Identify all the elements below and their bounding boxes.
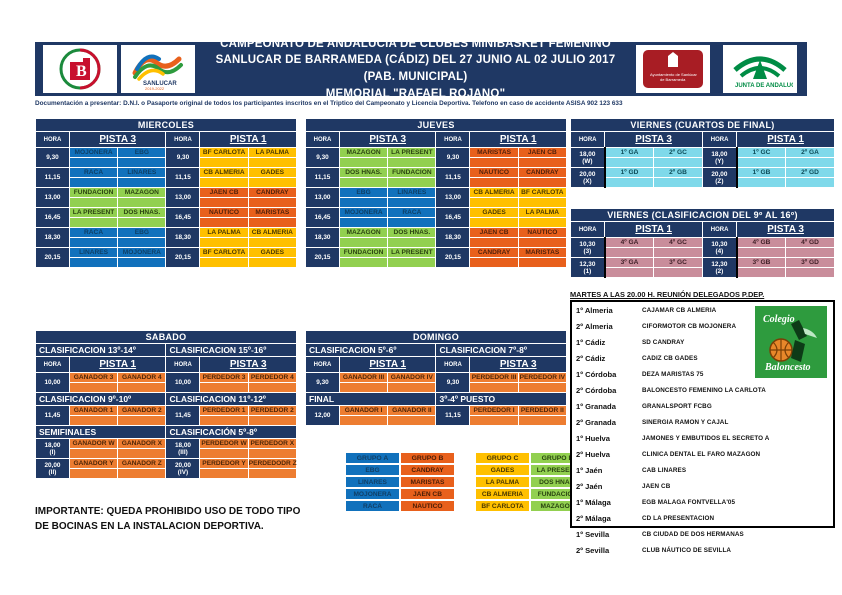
team-list-position: 2º Jaén: [576, 482, 642, 491]
team-cell[interactable]: FUNDACION: [339, 248, 387, 258]
section-title-left: CLASIFICACION 5º-6º: [306, 344, 436, 357]
team-cell[interactable]: GADES: [470, 208, 518, 218]
ayuntamiento-sanlucar-logo: Ayuntamiento de Sanlúcar de Barrameda: [636, 45, 710, 93]
svg-text:Baloncesto: Baloncesto: [764, 362, 811, 373]
score-cell[interactable]: [69, 383, 117, 393]
team-cell[interactable]: 2º GA: [786, 148, 835, 158]
day-header: JUEVES: [306, 119, 567, 132]
section-title-right: CLASIFICACION 7º-8º: [436, 344, 567, 357]
match-time: 9,30: [36, 148, 70, 168]
team-cell[interactable]: EBG: [339, 188, 387, 198]
score-cell[interactable]: [388, 218, 436, 228]
score-cell[interactable]: [118, 178, 166, 188]
score-cell[interactable]: [605, 268, 654, 278]
team-cell[interactable]: LINARES: [388, 188, 436, 198]
hora-header: HORA: [36, 132, 70, 148]
importante-line-1: IMPORTANTE: QUEDA PROHIBIDO USO DE TODO …: [35, 505, 335, 520]
match-time: 16,45: [436, 208, 470, 228]
score-cell[interactable]: [118, 218, 166, 228]
section-title-row: FINAL3º-4º PUESTO: [306, 393, 567, 406]
match-time: 20,15: [436, 248, 470, 268]
score-cell[interactable]: [200, 258, 248, 268]
team-list-row: 2º JaénJAEN CB: [572, 478, 833, 494]
match-time: 9,30: [306, 373, 340, 393]
team-cell[interactable]: JAEN CB: [470, 228, 518, 238]
team-cell[interactable]: PERDEDOR IV: [518, 373, 566, 383]
team-cell[interactable]: MOJONERA: [69, 148, 117, 158]
team-cell[interactable]: MAZAGON: [339, 228, 387, 238]
match-row: 16,45LA PRESENTDOS HNAS.16,45NAUTICOMARI…: [36, 208, 297, 218]
match-row: 20,15FUNDACIONLA PRESENT20,15CANDRAYMARI…: [306, 248, 567, 258]
match-time: 13,00: [436, 188, 470, 208]
team-cell[interactable]: 4º GC: [654, 238, 703, 248]
score-cell[interactable]: [248, 218, 296, 228]
match-time: 18,00(I): [36, 439, 70, 459]
score-cell[interactable]: [786, 268, 835, 278]
score-cell[interactable]: [200, 449, 248, 459]
team-list-club: BALONCESTO FEMENINO LA CARLOTA: [642, 387, 766, 394]
match-time: 9,30: [436, 373, 470, 393]
team-list-position: 1º Huelva: [576, 434, 642, 443]
team-cell[interactable]: 3º GD: [786, 258, 835, 268]
group-column: GRUPO BCANDRAYMARISTASJAEN CBNAUTICO: [400, 452, 455, 512]
team-cell[interactable]: BF CARLOTA: [200, 248, 248, 258]
score-cell[interactable]: [388, 416, 436, 426]
score-cell[interactable]: [339, 198, 387, 208]
group-team[interactable]: CANDRAY: [400, 464, 455, 476]
court-header-right: PISTA 1: [200, 132, 297, 148]
score-cell[interactable]: [69, 158, 117, 168]
score-cell[interactable]: [388, 158, 436, 168]
team-cell[interactable]: EBG: [118, 148, 166, 158]
score-cell[interactable]: [339, 258, 387, 268]
match-row: 11,45GANADOR 1GANADOR 211,45PERDEDOR 1PE…: [36, 406, 297, 416]
team-cell[interactable]: DOS HNAS.: [339, 168, 387, 178]
score-cell[interactable]: [118, 416, 166, 426]
score-cell[interactable]: [118, 258, 166, 268]
match-time: 10,30(4): [702, 238, 736, 258]
team-cell[interactable]: PERDEDOR 1: [200, 406, 248, 416]
team-cell[interactable]: MARISTAS: [470, 148, 518, 158]
team-cell[interactable]: GANADOR II: [388, 406, 436, 416]
score-cell[interactable]: [248, 178, 296, 188]
score-cell[interactable]: [200, 416, 248, 426]
team-cell[interactable]: GANADOR 2: [118, 406, 166, 416]
team-cell[interactable]: CB ALMERIA: [470, 188, 518, 198]
schedule-sabado: SABADOCLASIFICACION 13º-14ºCLASIFICACION…: [35, 330, 297, 479]
team-list-row: 2º HuelvaCLINICA DENTAL EL FARO MAZAGON: [572, 446, 833, 462]
score-cell[interactable]: [200, 198, 248, 208]
score-cell[interactable]: [737, 178, 786, 188]
team-cell[interactable]: 1º GD: [605, 168, 654, 178]
score-cell[interactable]: [200, 158, 248, 168]
team-cell[interactable]: 1º GC: [737, 148, 786, 158]
score-cell[interactable]: [388, 198, 436, 208]
score-cell[interactable]: [248, 158, 296, 168]
team-cell[interactable]: FUNDACION: [69, 188, 117, 198]
court-header-right: PISTA 1: [737, 132, 835, 148]
score-cell[interactable]: [200, 238, 248, 248]
team-cell[interactable]: 4º GA: [605, 238, 654, 248]
team-cell[interactable]: PERDEDODR Z: [248, 459, 296, 469]
team-cell[interactable]: GANADOR 4: [118, 373, 166, 383]
team-list-row: 2º GranadaSINERGIA RAMON Y CAJAL: [572, 414, 833, 430]
score-cell[interactable]: [339, 383, 387, 393]
group-team[interactable]: JAEN CB: [400, 488, 455, 500]
team-cell[interactable]: 2º GC: [654, 148, 703, 158]
score-cell[interactable]: [737, 248, 786, 258]
team-cell[interactable]: JAEN CB: [200, 188, 248, 198]
court-header-right: PISTA 3: [470, 357, 567, 373]
team-cell[interactable]: 1º GB: [737, 168, 786, 178]
team-cell[interactable]: MAZAGON: [118, 188, 166, 198]
header-right-logos: Ayuntamiento de Sanlúcar de Barrameda JU…: [636, 45, 797, 93]
score-cell[interactable]: [69, 416, 117, 426]
score-cell[interactable]: [786, 248, 835, 258]
section-title-row: SEMIFINALESCLASIFICACIÓN 5º-8º: [36, 426, 297, 439]
score-cell[interactable]: [518, 158, 566, 168]
hora-header: HORA: [166, 357, 200, 373]
match-time: 11,15: [166, 168, 200, 188]
match-time: 10,30(3): [571, 238, 605, 258]
match-time: 12,00: [306, 406, 340, 426]
team-cell[interactable]: GANADOR III: [339, 373, 387, 383]
score-cell[interactable]: [737, 268, 786, 278]
score-cell[interactable]: [248, 238, 296, 248]
match-time: 9,30: [166, 148, 200, 168]
match-time: 12,30(2): [702, 258, 736, 278]
team-cell[interactable]: PERDEDOR II: [518, 406, 566, 416]
day-header: VIERNES (CUARTOS DE FINAL): [571, 119, 835, 132]
team-cell[interactable]: EBG: [118, 228, 166, 238]
team-cell[interactable]: PERDEDOR III: [470, 373, 518, 383]
team-cell[interactable]: GANADOR Z: [118, 459, 166, 469]
score-cell[interactable]: [200, 218, 248, 228]
team-cell[interactable]: NAUTICO: [470, 168, 518, 178]
score-cell[interactable]: [470, 218, 518, 228]
team-cell[interactable]: GANADOR W: [69, 439, 117, 449]
team-cell[interactable]: PERDEDOR 2: [248, 406, 296, 416]
score-cell[interactable]: [518, 238, 566, 248]
match-time: 11,45: [166, 406, 200, 426]
team-cell[interactable]: LINARES: [69, 248, 117, 258]
team-list-position: 2º Sevilla: [576, 546, 642, 555]
score-cell[interactable]: [69, 178, 117, 188]
team-list-row: 1º MálagaEGB MALAGA FONTVELLA'05: [572, 494, 833, 510]
tournament-schedule-page: B SANLUCAR 2019-2022 CAMPEONATO DE ANDAL…: [0, 0, 842, 595]
team-list-club: SINERGIA RAMON Y CAJAL: [642, 419, 728, 426]
group-column: GRUPO AEBGLINARESMOJONERARACA: [345, 452, 400, 512]
group-column: GRUPO CGADESLA PALMACB ALMERIABF CARLOTA: [475, 452, 530, 512]
match-row: 9,30GANADOR IIIGANADOR IV9,30PERDEDOR II…: [306, 373, 567, 383]
team-cell[interactable]: CANDRAY: [248, 188, 296, 198]
hora-header: HORA: [166, 132, 200, 148]
match-time: 18,30: [306, 228, 340, 248]
hora-header: HORA: [306, 132, 340, 148]
score-cell[interactable]: [470, 258, 518, 268]
schedule-domingo: DOMINGOCLASIFICACION 5º-6ºCLASIFICACION …: [305, 330, 567, 426]
score-cell[interactable]: [518, 416, 566, 426]
team-cell[interactable]: 3º GB: [737, 258, 786, 268]
team-cell[interactable]: LA PALMA: [248, 148, 296, 158]
team-cell[interactable]: 3º GC: [654, 258, 703, 268]
team-cell[interactable]: LA PRESENT: [388, 248, 436, 258]
team-cell[interactable]: 2º GB: [654, 168, 703, 178]
score-cell[interactable]: [518, 178, 566, 188]
team-cell[interactable]: 4º GD: [786, 238, 835, 248]
team-cell[interactable]: RACA: [69, 228, 117, 238]
score-cell[interactable]: [654, 248, 703, 258]
score-cell[interactable]: [388, 238, 436, 248]
score-cell[interactable]: [388, 178, 436, 188]
team-cell[interactable]: DOS HNAS.: [118, 208, 166, 218]
group-team[interactable]: EBG: [345, 464, 400, 476]
score-cell[interactable]: [339, 158, 387, 168]
score-cell[interactable]: [518, 218, 566, 228]
team-cell[interactable]: CANDRAY: [518, 168, 566, 178]
team-list-position: 2º Huelva: [576, 450, 642, 459]
team-cell[interactable]: DOS HNAS.: [388, 228, 436, 238]
team-cell[interactable]: MOJONERA: [339, 208, 387, 218]
team-list-position: 1º Málaga: [576, 498, 642, 507]
score-cell[interactable]: [654, 178, 703, 188]
hora-header: HORA: [436, 132, 470, 148]
fab-logo: B: [43, 45, 117, 93]
group-team[interactable]: CB ALMERIA: [475, 488, 530, 500]
score-cell[interactable]: [518, 258, 566, 268]
match-row: 12,00GANADOR IGANADOR II11,15PERDEDOR IP…: [306, 406, 567, 416]
team-list-position: 1º Sevilla: [576, 530, 642, 539]
court-header-right: PISTA 1: [470, 132, 567, 148]
importante-line-2: DE BOCINAS EN LA INSTALACION DEPORTIVA.: [35, 520, 335, 535]
score-cell[interactable]: [388, 258, 436, 268]
team-cell[interactable]: MOJONERA: [118, 248, 166, 258]
score-cell[interactable]: [786, 178, 835, 188]
section-title-right: 3º-4º PUESTO: [436, 393, 567, 406]
team-list-club: SD CANDRAY: [642, 339, 684, 346]
section-title-right: CLASIFICACION 11º-12º: [166, 393, 297, 406]
hora-header: HORA: [571, 222, 605, 238]
score-cell[interactable]: [388, 383, 436, 393]
score-cell[interactable]: [69, 198, 117, 208]
team-cell[interactable]: GADES: [248, 168, 296, 178]
team-list-row: 1º SevillaCB CIUDAD DE DOS HERMANAS: [572, 526, 833, 542]
score-cell[interactable]: [605, 248, 654, 258]
score-cell[interactable]: [248, 198, 296, 208]
score-cell[interactable]: [339, 416, 387, 426]
score-cell[interactable]: [69, 258, 117, 268]
court-header-row: HORAPISTA 3HORAPISTA 1: [36, 132, 297, 148]
match-row: 10,30(3)4º GA4º GC10,30(4)4º GB4º GD: [571, 238, 835, 248]
section-title-right: CLASIFICACIÓN 5º-8º: [166, 426, 297, 439]
team-list-row: 2º MálagaCD LA PRESENTACION: [572, 510, 833, 526]
match-time: 20,00(Z): [702, 168, 736, 188]
team-cell[interactable]: RACA: [388, 208, 436, 218]
team-cell[interactable]: PERDEDOR 3: [200, 373, 248, 383]
score-cell[interactable]: [248, 258, 296, 268]
team-cell[interactable]: PERDEDOR 4: [248, 373, 296, 383]
team-cell[interactable]: GANADOR Y: [69, 459, 117, 469]
team-cell[interactable]: PERDEDOR W: [200, 439, 248, 449]
la-carlota-club-logo: Colegio Baloncesto: [755, 306, 827, 378]
score-cell[interactable]: [470, 416, 518, 426]
svg-text:Colegio: Colegio: [763, 314, 795, 325]
match-time: 9,30: [306, 148, 340, 168]
score-cell[interactable]: [339, 218, 387, 228]
court-header-row: HORAPISTA 3HORAPISTA 1: [306, 132, 567, 148]
team-list-position: 1º Almeria: [576, 306, 642, 315]
group-header: GRUPO B: [400, 452, 455, 464]
day-header: DOMINGO: [306, 331, 567, 344]
match-row: 18,00(W)1º GA2º GC18,00(Y)1º GC2º GA: [571, 148, 835, 158]
team-cell[interactable]: BF CARLOTA: [518, 188, 566, 198]
score-cell[interactable]: [470, 198, 518, 208]
score-cell[interactable]: [339, 178, 387, 188]
team-cell[interactable]: LINARES: [118, 168, 166, 178]
match-row: 16,45MOJONERARACA16,45GADESLA PALMA: [306, 208, 567, 218]
team-list-club: CAB LINARES: [642, 467, 686, 474]
score-cell[interactable]: [118, 238, 166, 248]
team-cell[interactable]: GADES: [248, 248, 296, 258]
match-time: 18,00(III): [166, 439, 200, 459]
group-team[interactable]: MOJONERA: [345, 488, 400, 500]
team-cell[interactable]: RACA: [69, 168, 117, 178]
section-title-left: CLASIFICACION 9º-10º: [36, 393, 166, 406]
group-team[interactable]: BF CARLOTA: [475, 500, 530, 512]
team-list-club: CLINICA DENTAL EL FARO MAZAGON: [642, 451, 760, 458]
score-cell[interactable]: [118, 469, 166, 479]
team-list-club: CIFORMOTOR CB MOJONERA: [642, 323, 736, 330]
team-cell[interactable]: 2º GD: [786, 168, 835, 178]
team-cell[interactable]: JAEN CB: [518, 148, 566, 158]
score-cell[interactable]: [654, 268, 703, 278]
score-cell[interactable]: [470, 238, 518, 248]
score-cell[interactable]: [69, 449, 117, 459]
match-time: 20,15: [36, 248, 70, 268]
score-cell[interactable]: [470, 383, 518, 393]
match-time: 20,15: [166, 248, 200, 268]
court-header-left: PISTA 1: [339, 357, 436, 373]
score-cell[interactable]: [248, 416, 296, 426]
match-time: 18,30: [166, 228, 200, 248]
team-cell[interactable]: CB ALMERIA: [248, 228, 296, 238]
team-list-panel: 1º AlmeriaCAJAMAR CB ALMERIA2º AlmeriaCI…: [570, 300, 835, 528]
team-cell[interactable]: PERDEDOR Y: [200, 459, 248, 469]
team-cell[interactable]: 1º GA: [605, 148, 654, 158]
team-list-club: DEZA MARISTAS 75: [642, 371, 703, 378]
score-cell[interactable]: [605, 178, 654, 188]
match-row: 11,15DOS HNAS.FUNDACION11,15NAUTICOCANDR…: [306, 168, 567, 178]
match-row: 13,00EBGLINARES13,00CB ALMERIABF CARLOTA: [306, 188, 567, 198]
team-cell[interactable]: 4º GB: [737, 238, 786, 248]
match-time: 11,15: [436, 406, 470, 426]
team-cell[interactable]: CANDRAY: [470, 248, 518, 258]
match-time: 11,15: [436, 168, 470, 188]
score-cell[interactable]: [470, 178, 518, 188]
match-row: 18,00(I)GANADOR WGANADOR X18,00(III)PERD…: [36, 439, 297, 449]
group-team[interactable]: GADES: [475, 464, 530, 476]
court-header-right: PISTA 3: [200, 357, 297, 373]
score-cell[interactable]: [248, 449, 296, 459]
team-cell[interactable]: PERDEDOR X: [248, 439, 296, 449]
team-cell[interactable]: GANADOR I: [339, 406, 387, 416]
group-team[interactable]: RACA: [345, 500, 400, 512]
team-cell[interactable]: GANADOR X: [118, 439, 166, 449]
team-cell[interactable]: GANADOR 1: [69, 406, 117, 416]
score-cell[interactable]: [200, 383, 248, 393]
score-cell[interactable]: [654, 158, 703, 168]
team-cell[interactable]: 3º GA: [605, 258, 654, 268]
score-cell[interactable]: [470, 158, 518, 168]
group-team[interactable]: NAUTICO: [400, 500, 455, 512]
group-team[interactable]: MARISTAS: [400, 476, 455, 488]
score-cell[interactable]: [69, 469, 117, 479]
svg-text:B: B: [76, 63, 87, 80]
team-cell[interactable]: LA PALMA: [518, 208, 566, 218]
team-list-club: CAJAMAR CB ALMERIA: [642, 307, 716, 314]
team-cell[interactable]: NAUTICO: [200, 208, 248, 218]
score-cell[interactable]: [118, 158, 166, 168]
score-cell[interactable]: [200, 469, 248, 479]
match-time: 12,30(1): [571, 258, 605, 278]
team-cell[interactable]: LA PRESENT: [69, 208, 117, 218]
score-cell[interactable]: [200, 178, 248, 188]
team-cell[interactable]: MARISTAS: [248, 208, 296, 218]
team-cell[interactable]: BF CARLOTA: [200, 148, 248, 158]
team-cell[interactable]: MAZAGON: [339, 148, 387, 158]
team-list-club: CD LA PRESENTACION: [642, 515, 714, 522]
score-cell[interactable]: [737, 158, 786, 168]
match-time: 13,00: [36, 188, 70, 208]
team-cell[interactable]: LA PRESENT: [388, 148, 436, 158]
court-header-left: PISTA 3: [339, 132, 436, 148]
score-cell[interactable]: [69, 218, 117, 228]
team-cell[interactable]: CB ALMERIA: [200, 168, 248, 178]
team-cell[interactable]: GANADOR 3: [69, 373, 117, 383]
score-cell[interactable]: [605, 158, 654, 168]
score-cell[interactable]: [248, 383, 296, 393]
score-cell[interactable]: [69, 238, 117, 248]
score-cell[interactable]: [118, 198, 166, 208]
score-cell[interactable]: [518, 383, 566, 393]
team-cell[interactable]: NAUTICO: [518, 228, 566, 238]
svg-text:de Barrameda: de Barrameda: [660, 77, 686, 82]
group-team[interactable]: LINARES: [345, 476, 400, 488]
match-time: 13,00: [306, 188, 340, 208]
score-cell[interactable]: [518, 198, 566, 208]
team-cell[interactable]: FUNDACION: [388, 168, 436, 178]
team-cell[interactable]: PERDEDOR I: [470, 406, 518, 416]
team-list-club: CLUB NÁUTICO DE SEVILLA: [642, 547, 731, 554]
score-cell[interactable]: [118, 383, 166, 393]
team-cell[interactable]: LA PALMA: [200, 228, 248, 238]
match-row: 20,00(II)GANADOR YGANADOR Z20,00(IV)PERD…: [36, 459, 297, 469]
score-cell[interactable]: [786, 158, 835, 168]
score-cell[interactable]: [339, 238, 387, 248]
page-header: B SANLUCAR 2019-2022 CAMPEONATO DE ANDAL…: [35, 42, 807, 96]
team-cell[interactable]: GANADOR IV: [388, 373, 436, 383]
score-cell[interactable]: [248, 469, 296, 479]
match-time: 11,15: [36, 168, 70, 188]
match-row: 9,30MAZAGONLA PRESENT9,30MARISTASJAEN CB: [306, 148, 567, 158]
group-team[interactable]: LA PALMA: [475, 476, 530, 488]
court-header-left: PISTA 3: [605, 132, 703, 148]
team-list-row: 1º GranadaGRANALSPORT FCBG: [572, 398, 833, 414]
score-cell[interactable]: [118, 449, 166, 459]
team-list-position: 1º Jaén: [576, 466, 642, 475]
team-cell[interactable]: MARISTAS: [518, 248, 566, 258]
team-list-position: 1º Córdoba: [576, 370, 642, 379]
